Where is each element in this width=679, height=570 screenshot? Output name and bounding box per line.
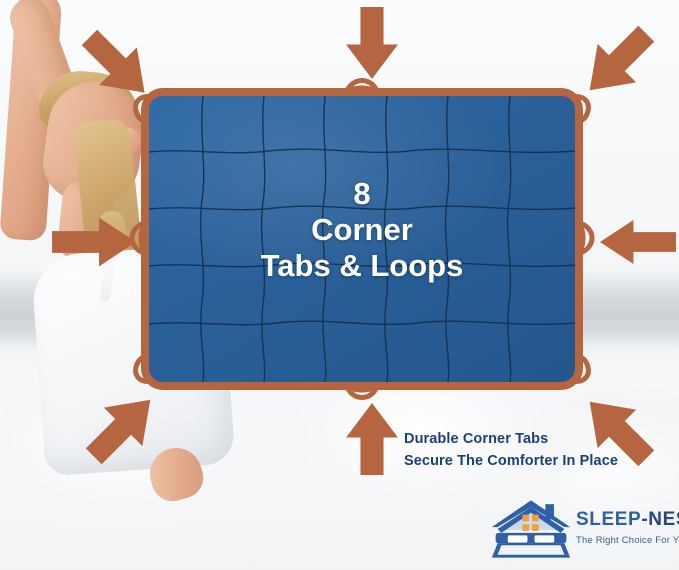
brand-name: SLEEP-NEST: [576, 510, 674, 529]
arrow-top-right: [578, 22, 658, 102]
arrow-top-left: [78, 26, 156, 104]
brand-wordmark: SLEEP-NEST The Right Choice For You: [576, 510, 674, 545]
product-banner: 8 Corner Tabs & Loops: [0, 0, 679, 570]
quilted-grid-pattern: [149, 96, 575, 382]
feature-caption: Durable Corner Tabs Secure The Comforter…: [404, 428, 618, 472]
arrow-middle-left: [52, 216, 136, 268]
comforter-illustration: 8 Corner Tabs & Loops: [141, 88, 583, 390]
house-bed-logo-icon: [488, 498, 574, 560]
arrow-middle-right: [600, 216, 676, 268]
arrow-bottom-center: [336, 400, 408, 478]
comforter-panel: [141, 88, 583, 390]
arrow-top-center: [336, 4, 408, 82]
caption-line-1: Durable Corner Tabs: [404, 428, 618, 450]
brand-tagline: The Right Choice For You: [576, 534, 674, 545]
brand-name-primary: SLEEP: [576, 509, 641, 530]
caption-line-2: Secure The Comforter In Place: [404, 450, 618, 472]
arrow-bottom-left: [82, 388, 162, 468]
brand-logo: SLEEP-NEST The Right Choice For You: [488, 498, 674, 564]
brand-name-secondary: NEST: [648, 509, 679, 530]
